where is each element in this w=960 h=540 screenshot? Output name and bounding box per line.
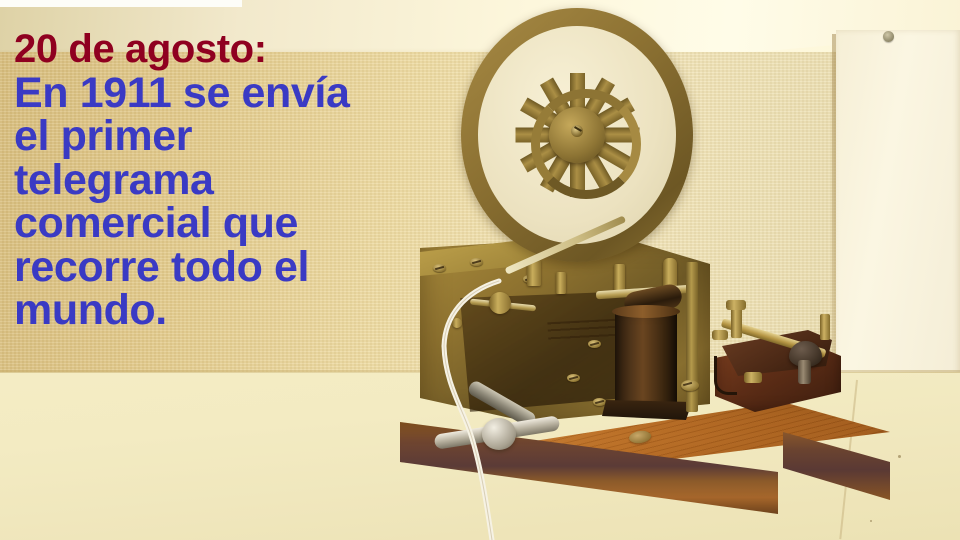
crank-knob	[482, 418, 516, 450]
caption-body: En 1911 se envía el primer telegrama com…	[14, 72, 444, 332]
brass-pulley	[489, 292, 511, 314]
screw-icon	[588, 340, 601, 348]
reel-hub	[549, 107, 605, 163]
screw-icon	[593, 398, 606, 406]
right-wall-panel	[836, 30, 960, 390]
table-speck	[898, 455, 901, 458]
white-top-lip	[0, 0, 242, 7]
electromagnet-coil	[615, 310, 677, 414]
key-contact-post	[820, 314, 830, 340]
wall-screw-icon	[883, 31, 894, 42]
caption-date: 20 de agosto:	[14, 30, 444, 70]
key-adjust-nut	[726, 300, 746, 310]
key-terminal	[712, 330, 728, 340]
telegraph-key-stem	[798, 360, 811, 384]
caption-line-5: recorre todo el	[14, 246, 444, 289]
coil-top-flange	[612, 305, 680, 318]
brass-stud	[452, 318, 462, 328]
key-terminal	[744, 372, 762, 383]
screw-icon	[681, 380, 699, 391]
caption-line-2: el primer	[14, 115, 444, 158]
brass-post	[556, 272, 566, 294]
slide-canvas: 20 de agosto: En 1911 se envía el primer…	[0, 0, 960, 540]
paper-tape-reel	[461, 8, 693, 262]
key-connection-wire	[714, 356, 737, 395]
key-pivot-post	[731, 308, 742, 338]
wall-corner-line	[832, 34, 836, 390]
caption-line-1: En 1911 se envía	[14, 72, 444, 115]
caption-line-3: telegrama	[14, 159, 444, 202]
slide-caption: 20 de agosto: En 1911 se envía el primer…	[14, 30, 444, 333]
table-speck	[870, 520, 872, 522]
caption-line-6: mundo.	[14, 289, 444, 332]
caption-line-4: comercial que	[14, 202, 444, 245]
screw-icon	[567, 374, 580, 382]
